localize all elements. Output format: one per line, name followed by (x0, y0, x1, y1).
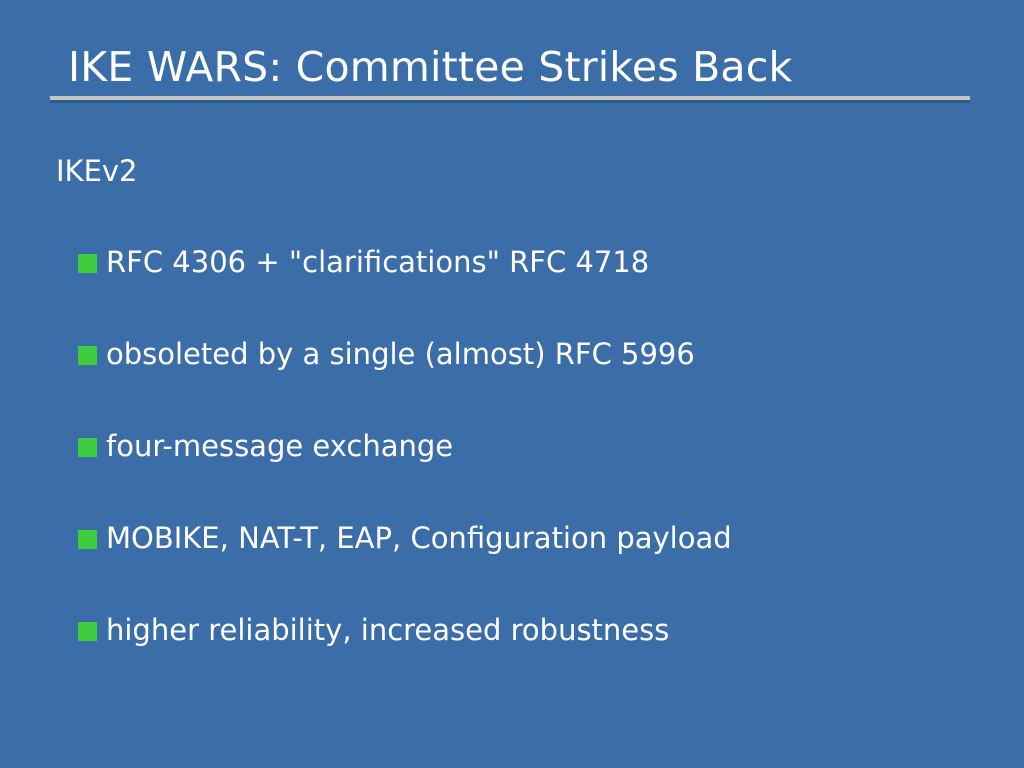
square-bullet-icon (78, 346, 97, 365)
list-item-label: obsoleted by a single (almost) RFC 5996 (106, 332, 695, 376)
slide: IKE WARS: Committee Strikes Back IKEv2 R… (0, 0, 1024, 768)
list-item: MOBIKE, NAT-T, EAP, Configuration payloa… (78, 516, 978, 608)
list-item: higher reliability, increased robustness (78, 608, 978, 700)
list-item-label: MOBIKE, NAT-T, EAP, Configuration payloa… (106, 516, 732, 560)
subtitle: IKEv2 (56, 152, 138, 190)
square-bullet-icon (78, 530, 97, 549)
list-item-label: four-message exchange (106, 424, 453, 468)
bullet-list: RFC 4306 + "clarifications" RFC 4718 obs… (78, 240, 978, 700)
list-item-label: RFC 4306 + "clarifications" RFC 4718 (106, 240, 649, 284)
square-bullet-icon (78, 254, 97, 273)
list-item: RFC 4306 + "clarifications" RFC 4718 (78, 240, 978, 332)
list-item-label: higher reliability, increased robustness (106, 608, 669, 652)
title-block: IKE WARS: Committee Strikes Back (50, 42, 974, 100)
title-underline-rule (50, 96, 970, 100)
list-item: obsoleted by a single (almost) RFC 5996 (78, 332, 978, 424)
square-bullet-icon (78, 438, 97, 457)
page-title: IKE WARS: Committee Strikes Back (50, 42, 974, 92)
square-bullet-icon (78, 622, 97, 641)
list-item: four-message exchange (78, 424, 978, 516)
